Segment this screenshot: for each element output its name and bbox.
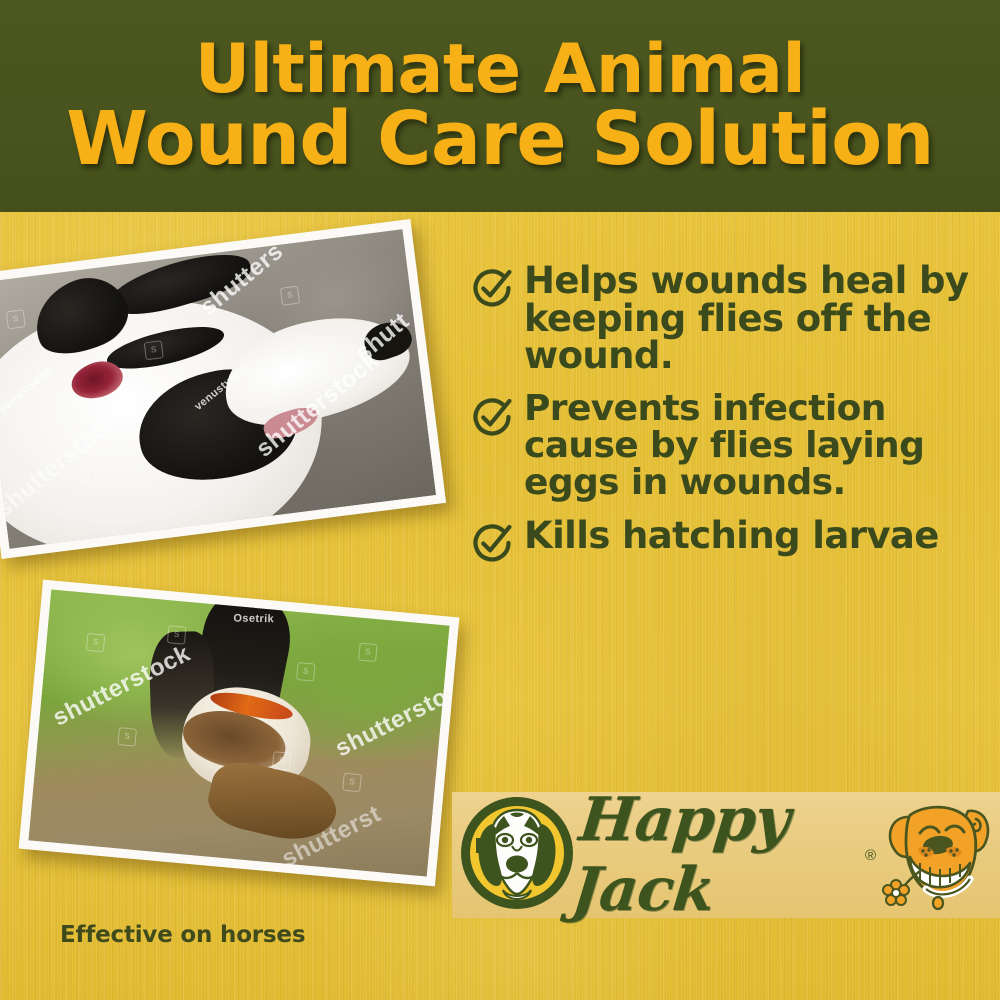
watermark-tile-icon: s <box>86 633 106 653</box>
footer-caption: Effective on horses <box>60 922 305 948</box>
page-title-line-1: Ultimate Animal <box>195 37 805 102</box>
benefit-text: Prevents infection cause by flies laying… <box>524 391 990 501</box>
poster-root: Ultimate Animal Wound Care Solution s s … <box>0 0 1000 1000</box>
photo-card-dog-wound: s s s s s shutters shutterstock shutt sh… <box>0 219 446 559</box>
benefits-list: Helps wounds heal by keeping flies off t… <box>470 262 990 565</box>
check-circle-icon <box>470 521 514 565</box>
brand-name-text: Happy Jack <box>569 785 871 925</box>
watermark-tile-icon: s <box>280 286 300 306</box>
photo-horse-wound-image: s s s s s s s shutterstock shutterstock … <box>28 589 449 876</box>
benefit-item: Helps wounds heal by keeping flies off t… <box>470 262 990 375</box>
watermark-tile-icon: s <box>358 643 378 663</box>
brand-wordmark: Happy Jack® <box>576 785 876 925</box>
benefit-item: Prevents infection cause by flies laying… <box>470 391 990 501</box>
benefit-text: Kills hatching larvae <box>524 517 939 555</box>
benefit-item: Kills hatching larvae <box>470 517 990 565</box>
header-banner: Ultimate Animal Wound Care Solution <box>0 0 1000 212</box>
photo-card-horse-wound: s s s s s s s shutterstock shutterstock … <box>19 580 460 887</box>
registered-trademark-icon: ® <box>865 847 876 864</box>
photo-dog-wound-image: s s s s s shutters shutterstock shutt sh… <box>0 229 436 549</box>
brand-logo-band: Happy Jack® <box>452 792 1000 918</box>
check-circle-icon <box>470 395 514 439</box>
watermark-tile-icon: s <box>77 462 97 482</box>
benefit-text: Helps wounds heal by keeping flies off t… <box>524 262 990 375</box>
watermark-tile-icon: s <box>296 662 316 682</box>
page-title-line-2: Wound Care Solution <box>66 104 934 175</box>
watermark-tile-icon: s <box>342 773 362 793</box>
watermark-tile-icon: s <box>266 385 286 405</box>
check-circle-icon <box>470 266 514 310</box>
watermark-tile-icon: s <box>6 309 26 329</box>
watermark-tile-icon: s <box>272 751 292 771</box>
watermark-tile-icon: s <box>117 727 137 747</box>
watermark-tile-icon: s <box>144 341 164 361</box>
cartoon-dog-mascot-icon <box>876 793 996 918</box>
beagle-head-logo-icon <box>458 794 576 917</box>
watermark-tile-icon: s <box>167 625 187 645</box>
